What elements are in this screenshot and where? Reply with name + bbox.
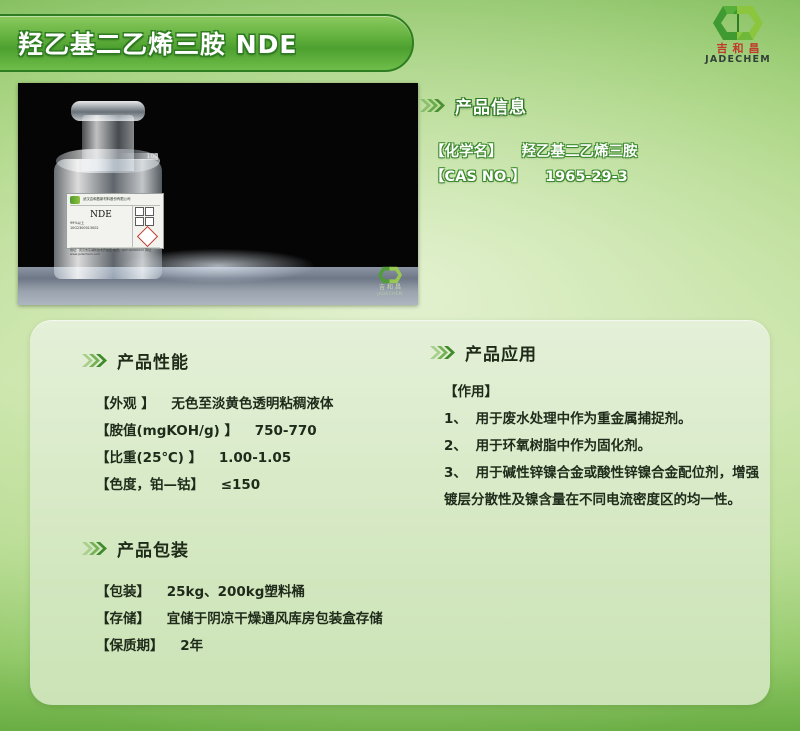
- packaging-row-storage: 【存储】 宜储于阴凉干燥通风库房包装盒存储: [96, 606, 682, 633]
- packaging-label-storage: 【存储】: [96, 611, 150, 627]
- packaging-title: 产品包装: [117, 536, 189, 561]
- info-label-cas-no: 【CAS NO.】: [430, 169, 526, 185]
- reagent-bottle: 100 武汉吉和昌新材料股份有限公司 NDE 99%以上 10G23000130…: [54, 101, 162, 279]
- performance-rows: 【外观 】 无色至淡黄色透明粘稠液体 【胺值(mgKOH/g) 】 750-77…: [96, 391, 412, 499]
- performance-row-amine-value: 【胺值(mgKOH/g) 】 750-770: [96, 418, 412, 445]
- watermark-name-en: JADECHEM: [377, 291, 402, 296]
- bottle-label: 武汉吉和昌新材料股份有限公司 NDE 99%以上 10G2300013002: [66, 193, 164, 249]
- product-info-header: 产品信息: [420, 93, 790, 118]
- application-item-3-text: 用于碱性锌镍合金或酸性锌镍合金配位剂，增强镀层分散性及镍含量在不同电流密度区的均…: [444, 465, 759, 508]
- application-item-1-text: 用于废水处理中作为重金属捕捉剂。: [476, 411, 692, 427]
- content-card: 产品性能 【外观 】 无色至淡黄色透明粘稠液体 【胺值(mgKOH/g) 】 7…: [30, 320, 770, 705]
- section-performance: 产品性能 【外观 】 无色至淡黄色透明粘稠液体 【胺值(mgKOH/g) 】 7…: [82, 348, 412, 499]
- packaging-value-package: 25kg、200kg塑料桶: [167, 584, 305, 600]
- packaging-value-shelf-life: 2年: [180, 638, 203, 654]
- application-header: 产品应用: [430, 340, 760, 365]
- performance-row-specific-gravity: 【比重(25℃) 】 1.00-1.05: [96, 445, 412, 472]
- ghs-icon-2: [145, 207, 154, 216]
- application-rows: 【作用】 1、 用于废水处理中作为重金属捕捉剂。 2、 用于环氧树脂中作为固化剂…: [444, 379, 760, 514]
- watermark-logo-icon: [373, 265, 407, 285]
- jadechem-hexagon-logo-icon: [703, 4, 773, 42]
- label-fields: NDE 99%以上 10G2300013002: [70, 206, 132, 247]
- packaging-label-shelf-life: 【保质期】: [96, 638, 164, 654]
- packaging-header: 产品包装: [82, 536, 682, 561]
- performance-row-appearance: 【外观 】 无色至淡黄色透明粘稠液体: [96, 391, 412, 418]
- label-footer: 地址：武汉市东湖新技术开发区 电话：027-00000000 网址：www.ja…: [70, 247, 160, 256]
- application-item-2-number: 2、: [444, 438, 467, 454]
- application-item-2-text: 用于环氧树脂中作为固化剂。: [476, 438, 652, 454]
- packaging-value-storage: 宜储于阴凉干燥通风库房包装盒存储: [167, 611, 383, 627]
- chevrons-right-icon: [420, 98, 446, 113]
- application-item-3-number: 3、: [444, 465, 467, 481]
- product-info-page: 羟乙基二乙烯三胺 NDE 吉和昌 JADECHEM 100 武汉吉和昌新材料: [0, 0, 800, 731]
- info-value-cas-no: 1965-29-3: [545, 169, 628, 185]
- chevrons-right-icon: [82, 541, 108, 556]
- performance-value-specific-gravity: 1.00-1.05: [219, 450, 291, 466]
- label-logo-icon: [70, 196, 80, 204]
- ghs-icon-1: [135, 207, 144, 216]
- info-row-cas-no: 【CAS NO.】 1965-29-3: [430, 165, 790, 190]
- bottle-graduation: 100: [118, 153, 158, 160]
- performance-label-color: 【色度，铂—钴】: [96, 477, 204, 493]
- ghs-icon-3: [135, 217, 144, 226]
- label-batch: 10G2300013002: [70, 226, 132, 231]
- bottle-label-header: 武汉吉和昌新材料股份有限公司: [70, 196, 160, 206]
- label-product-name: NDE: [70, 211, 132, 220]
- application-item-2: 2、 用于环氧树脂中作为固化剂。: [444, 433, 760, 460]
- performance-label-amine-value: 【胺值(mgKOH/g) 】: [96, 423, 238, 439]
- packaging-row-package: 【包装】 25kg、200kg塑料桶: [96, 579, 682, 606]
- packaging-label-package: 【包装】: [96, 584, 150, 600]
- application-item-1: 1、 用于废水处理中作为重金属捕捉剂。: [444, 406, 760, 433]
- performance-row-color: 【色度，铂—钴】 ≤150: [96, 472, 412, 499]
- application-item-3: 3、 用于碱性锌镍合金或酸性锌镍合金配位剂，增强镀层分散性及镍含量在不同电流密度…: [444, 460, 764, 514]
- hazard-diamond-icon: [136, 226, 157, 247]
- info-value-chemical-name: 羟乙基二乙烯三胺: [522, 144, 638, 160]
- chevrons-right-icon: [430, 345, 456, 360]
- packaging-row-shelf-life: 【保质期】 2年: [96, 633, 682, 660]
- application-title: 产品应用: [465, 340, 537, 365]
- performance-value-amine-value: 750-770: [255, 423, 317, 439]
- product-info-title: 产品信息: [455, 93, 527, 118]
- performance-label-specific-gravity: 【比重(25℃) 】: [96, 450, 202, 466]
- product-info-rows: 【化学名】 羟乙基二乙烯三胺 【CAS NO.】 1965-29-3: [430, 140, 790, 190]
- info-label-chemical-name: 【化学名】: [430, 144, 503, 160]
- performance-header: 产品性能: [82, 348, 412, 373]
- label-company: 武汉吉和昌新材料股份有限公司: [83, 198, 130, 202]
- section-application: 产品应用 【作用】 1、 用于废水处理中作为重金属捕捉剂。 2、 用于环氧树脂中…: [430, 340, 760, 514]
- brand-logo: 吉和昌 JADECHEM: [686, 4, 790, 70]
- section-packaging: 产品包装 【包装】 25kg、200kg塑料桶 【存储】 宜储于阴凉干燥通风库房…: [82, 536, 682, 660]
- application-item-1-number: 1、: [444, 411, 467, 427]
- bottle-label-body: NDE 99%以上 10G2300013002: [70, 206, 160, 247]
- chevrons-right-icon: [82, 353, 108, 368]
- label-pictograms: [132, 206, 160, 247]
- ghs-icon-4: [145, 217, 154, 226]
- product-photo: 100 武汉吉和昌新材料股份有限公司 NDE 99%以上 10G23000130…: [18, 83, 418, 305]
- section-product-info: 产品信息 【化学名】 羟乙基二乙烯三胺 【CAS NO.】 1965-29-3: [420, 93, 790, 190]
- brand-name-en: JADECHEM: [705, 55, 771, 65]
- performance-label-appearance: 【外观 】: [96, 396, 155, 412]
- info-row-chemical-name: 【化学名】 羟乙基二乙烯三胺: [430, 140, 790, 165]
- title-banner: 羟乙基二乙烯三胺 NDE: [0, 14, 414, 72]
- photo-watermark: 吉和昌 JADECHEM: [370, 265, 410, 299]
- application-subtitle: 【作用】: [444, 379, 760, 406]
- performance-value-color: ≤150: [221, 477, 261, 493]
- packaging-rows: 【包装】 25kg、200kg塑料桶 【存储】 宜储于阴凉干燥通风库房包装盒存储…: [96, 579, 682, 660]
- page-title: 羟乙基二乙烯三胺 NDE: [18, 25, 297, 61]
- performance-value-appearance: 无色至淡黄色透明粘稠液体: [171, 396, 333, 412]
- performance-title: 产品性能: [117, 348, 189, 373]
